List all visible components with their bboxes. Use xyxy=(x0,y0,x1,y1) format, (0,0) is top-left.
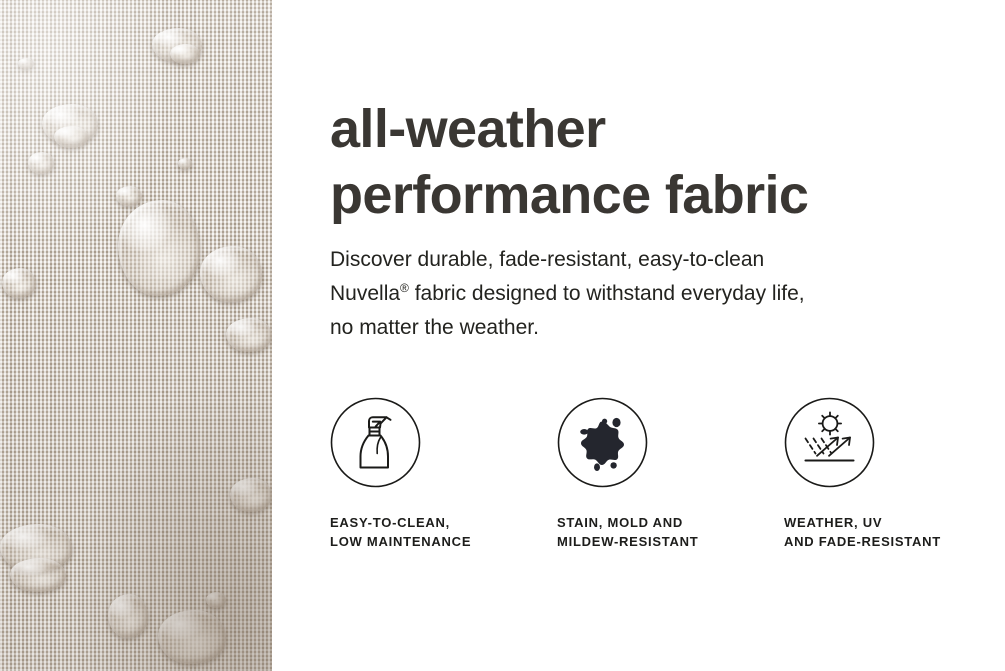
feature-caption-stain-resistant: STAIN, MOLD AND MILDEW-RESISTANT xyxy=(557,513,784,551)
spray-bottle-icon xyxy=(330,397,421,488)
page-title-line-1: all-weather xyxy=(330,96,990,162)
feature-caption-weather-uv-resistant: WEATHER, UV AND FADE-RESISTANT xyxy=(784,513,1005,551)
feature-item-stain-resistant: STAIN, MOLD AND MILDEW-RESISTANT xyxy=(557,397,784,551)
feature-caption-line-2: AND FADE-RESISTANT xyxy=(784,532,1005,551)
feature-caption-line-1: EASY-TO-CLEAN, xyxy=(330,513,557,532)
fabric-feature-banner: all-weather performance fabric Discover … xyxy=(0,0,1005,671)
feature-item-weather-uv-resistant: WEATHER, UV AND FADE-RESISTANT xyxy=(784,397,1005,551)
brand-name: Nuvella xyxy=(330,282,400,305)
feature-caption-line-1: STAIN, MOLD AND xyxy=(557,513,784,532)
water-beading-fabric-photo xyxy=(0,0,272,671)
page-title: all-weather performance fabric xyxy=(330,96,990,228)
registered-trademark-symbol: ® xyxy=(400,281,409,295)
stain-splat-icon xyxy=(557,397,648,488)
feature-caption-easy-to-clean: EASY-TO-CLEAN, LOW MAINTENANCE xyxy=(330,513,557,551)
description-line-2: Nuvella® fabric designed to withstand ev… xyxy=(330,277,960,311)
description-line-2-rest: fabric designed to withstand everyday li… xyxy=(409,282,805,305)
feature-item-easy-to-clean: EASY-TO-CLEAN, LOW MAINTENANCE xyxy=(330,397,557,551)
description-line-1: Discover durable, fade-resistant, easy-t… xyxy=(330,243,960,277)
photo-lighting-overlay xyxy=(0,0,272,671)
page-title-line-2: performance fabric xyxy=(330,162,990,228)
feature-caption-line-1: WEATHER, UV xyxy=(784,513,1005,532)
feature-caption-line-2: LOW MAINTENANCE xyxy=(330,532,557,551)
description-line-3: no matter the weather. xyxy=(330,311,960,345)
feature-list: EASY-TO-CLEAN, LOW MAINTENANCE xyxy=(330,397,1005,551)
sun-uv-reflect-icon xyxy=(784,397,875,488)
content-column: all-weather performance fabric Discover … xyxy=(330,0,1005,671)
description-text: Discover durable, fade-resistant, easy-t… xyxy=(330,243,960,345)
feature-caption-line-2: MILDEW-RESISTANT xyxy=(557,532,784,551)
